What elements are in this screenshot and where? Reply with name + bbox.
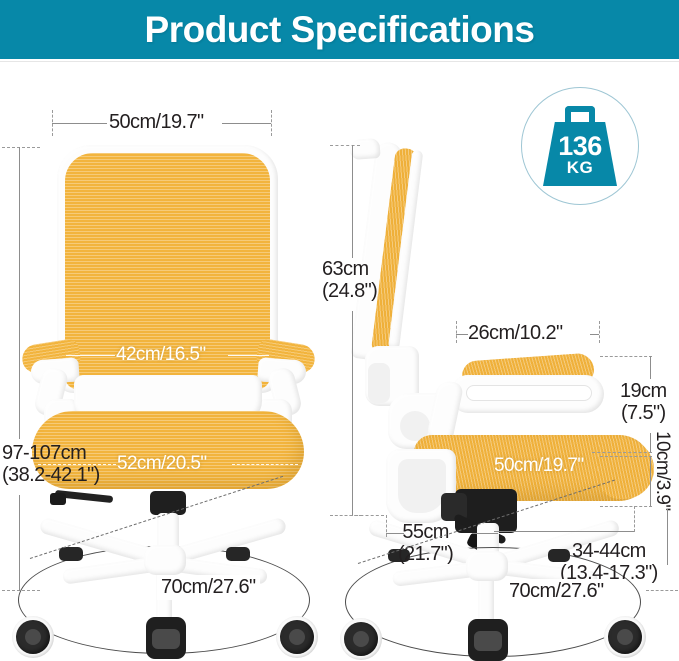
dimline-overall-height-top-ext	[2, 147, 40, 148]
header-divider	[0, 59, 679, 62]
dim-backrest-height-cm: 63cm	[322, 259, 377, 281]
weight-capacity-badge: 136 KG	[521, 87, 639, 205]
dim-front-base-diameter: 70cm/27.6"	[157, 575, 260, 600]
side-seat-pan-shade	[398, 459, 446, 513]
dim-overall-height-inch: (38.2-42.1")	[2, 465, 100, 487]
dimline-backrest-height-bottom-arm	[352, 311, 353, 515]
dim-armrest-height-inch: (7.5")	[620, 403, 667, 425]
dimline-seat-thickness-top-ext	[600, 456, 652, 457]
dimline-overall-height-bottom-arm	[19, 495, 20, 591]
dim-backrest-width: 50cm/19.7"	[109, 111, 204, 134]
dimline-backrest-width-right-tick	[271, 110, 272, 136]
dim-seat-width: 52cm/20.5"	[117, 453, 206, 475]
dimline-seat-height-arm	[667, 509, 668, 565]
dim-side-seat-top: 50cm/19.7"	[494, 455, 583, 477]
front-cylinder-collar	[150, 491, 186, 515]
dim-armrest-length: 26cm/10.2"	[468, 322, 563, 345]
dimline-backrest-height-top-arm	[352, 145, 353, 258]
dim-backrest-height: 63cm (24.8")	[322, 259, 377, 302]
dimline-backrest-inner-right	[228, 355, 269, 356]
dimline-seat-depth-right-arm	[472, 533, 498, 534]
dimline-armrest-length-right-tick	[599, 321, 600, 343]
side-base-hub	[466, 551, 508, 581]
front-caster-right	[280, 620, 314, 654]
side-caster-left	[344, 622, 378, 656]
dimline-seat-height-bottom-ext	[646, 590, 678, 591]
weight-icon: 136 KG	[543, 106, 617, 186]
weight-body-shape: 136 KG	[543, 122, 617, 186]
dim-armrest-height: 19cm (7.5")	[620, 381, 667, 424]
dim-seat-height-cm: 34-44cm	[560, 541, 658, 563]
dimline-backrest-width-left-arm	[52, 123, 107, 124]
dimline-backrest-height-top-ext	[330, 145, 360, 146]
dimline-armrest-length-left-arm	[456, 334, 468, 335]
side-caster-right	[608, 620, 642, 654]
dim-seat-height: 34-44cm (13.4-17.3")	[560, 541, 658, 584]
side-seat-front-edge	[598, 439, 654, 499]
dimline-overall-height-bottom-ext	[2, 590, 40, 591]
specification-diagram: 136 KG	[0, 63, 679, 656]
weight-handle-shape	[565, 106, 595, 122]
side-backrest-top-cap	[349, 138, 380, 160]
front-caster-left	[16, 620, 50, 654]
dim-overall-height-cm: 97-107cm	[2, 443, 100, 465]
dimline-seat-depth-left-ext	[350, 515, 384, 516]
side-armrest-loop-hole	[466, 385, 592, 401]
dim-backrest-height-inch: (24.8")	[322, 281, 377, 303]
dim-backrest-inner-width: 42cm/16.5"	[116, 344, 205, 366]
front-tilt-lever-knob	[50, 493, 66, 505]
dimline-backrest-width-right-arm	[222, 123, 271, 124]
dimline-seat-height-tick	[634, 506, 635, 532]
dimline-armrest-height-top-ext	[600, 356, 652, 357]
page-title: Product Specifications	[145, 9, 535, 51]
dimline-backrest-inner-left	[66, 355, 115, 356]
dimline-armrest-height-bottom-ext	[592, 452, 652, 453]
dimline-armrest-length-left-tick	[456, 321, 457, 343]
dimline-armrest-height-top-arm	[650, 356, 651, 379]
dim-seat-thickness: 10cm/3.9"	[651, 431, 673, 511]
dimline-seat-width-left	[38, 464, 116, 465]
side-caster-center-hub	[474, 631, 502, 651]
dimline-seat-thickness-bottom-ext	[600, 506, 652, 507]
front-caster-center-hub	[152, 629, 180, 649]
dimline-seat-width-right	[232, 464, 298, 465]
dimline-overall-height-top-arm	[19, 147, 20, 439]
front-caster-rear-right	[226, 547, 250, 561]
front-base-hub	[144, 545, 186, 575]
dimline-armrest-length-right-arm	[590, 334, 599, 335]
weight-value: 136	[558, 134, 602, 159]
dim-armrest-height-cm: 19cm	[620, 381, 667, 403]
dimline-seat-height-ext	[494, 531, 634, 532]
side-backrest-mount-shade	[368, 363, 390, 403]
weight-unit: KG	[567, 159, 594, 176]
dim-side-base-diameter: 70cm/27.6"	[505, 579, 608, 604]
dim-seat-depth: 55cm (21.7")	[398, 522, 453, 565]
page-header: Product Specifications	[0, 0, 679, 59]
front-caster-rear-left	[59, 547, 83, 561]
